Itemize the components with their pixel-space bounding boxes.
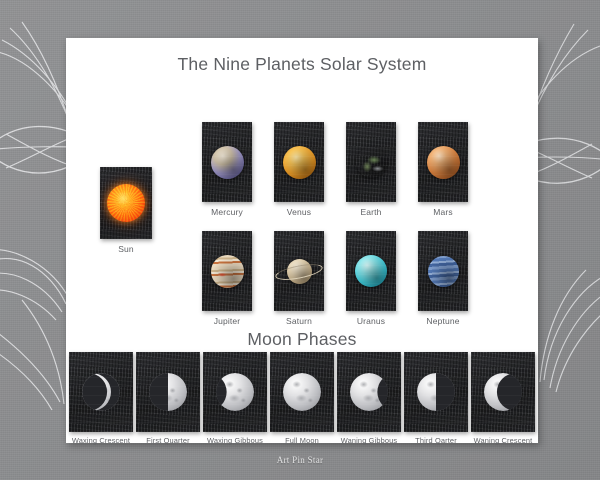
sun-card-image xyxy=(100,167,152,239)
saturn-disc xyxy=(276,254,322,288)
planet-card-venus: Venus xyxy=(274,122,324,217)
waxing-crescent-moon-icon xyxy=(82,373,120,411)
photo-backdrop: The Nine Planets Solar System Sun Mercur… xyxy=(0,0,600,480)
moon-shadow-mask xyxy=(149,373,187,411)
mars-caption: Mars xyxy=(433,207,453,217)
planet-card-mercury: Mercury xyxy=(202,122,252,217)
mercury-caption: Mercury xyxy=(211,207,243,217)
uranus-card-image xyxy=(346,231,396,311)
first-quarter-moon-icon xyxy=(149,373,187,411)
waning-gibbous-caption: Waning Gibbous xyxy=(341,436,397,445)
neptune-disc xyxy=(428,256,459,287)
mercury-card-image xyxy=(202,122,252,202)
uranus-caption: Uranus xyxy=(357,316,385,326)
sun-caption: Sun xyxy=(118,244,134,254)
planet-card-uranus: Uranus xyxy=(346,231,396,326)
moon-card-first-quarter: First Quarter xyxy=(136,352,200,445)
jupiter-disc xyxy=(211,255,244,288)
waning-gibbous-moon-icon xyxy=(350,373,388,411)
neptune-caption: Neptune xyxy=(426,316,459,326)
moon-card-third-quarter: Third Qarter xyxy=(404,352,468,445)
watermark: Art Pin Star xyxy=(0,455,600,465)
planet-card-jupiter: Jupiter xyxy=(202,231,252,326)
first-quarter-caption: First Quarter xyxy=(146,436,189,445)
venus-card-image xyxy=(274,122,324,202)
moon-card-waxing-crescent: Waxing Crescent xyxy=(69,352,133,445)
planets-section: Sun Mercury Venus xyxy=(66,75,538,325)
planet-card-neptune: Neptune xyxy=(418,231,468,326)
moon-card-waning-gibbous: Waning Gibbous xyxy=(337,352,401,445)
waning-gibbous-card-image xyxy=(337,352,401,432)
moon-card-full-moon: Full Moon xyxy=(270,352,334,445)
moon-shadow-mask xyxy=(82,373,120,411)
waning-crescent-moon-icon xyxy=(484,373,522,411)
moon-phases-section: Waxing Crescent First Quarter xyxy=(66,352,538,445)
waxing-crescent-caption: Waxing Crescent xyxy=(72,436,130,445)
waxing-gibbous-card-image xyxy=(203,352,267,432)
full-moon-caption: Full Moon xyxy=(285,436,319,445)
saturn-card-image xyxy=(274,231,324,311)
waxing-gibbous-moon-icon xyxy=(216,373,254,411)
moon-phases-title: Moon Phases xyxy=(66,325,538,350)
full-moon-card-image xyxy=(270,352,334,432)
mercury-disc xyxy=(211,146,244,179)
third-quarter-card-image xyxy=(404,352,468,432)
planet-card-saturn: Saturn xyxy=(274,231,324,326)
moon-shadow-mask xyxy=(417,373,455,411)
moon-shadow-mask xyxy=(350,373,388,411)
sun-disc xyxy=(107,184,145,222)
first-quarter-card-image xyxy=(136,352,200,432)
venus-disc xyxy=(283,146,316,179)
moon-shadow-mask xyxy=(283,373,321,411)
third-quarter-caption: Third Qarter xyxy=(415,436,457,445)
neptune-card-image xyxy=(418,231,468,311)
earth-disc xyxy=(356,147,387,178)
saturn-caption: Saturn xyxy=(286,316,312,326)
jupiter-caption: Jupiter xyxy=(214,316,241,326)
full-moon-icon xyxy=(283,373,321,411)
jupiter-card-image xyxy=(202,231,252,311)
planet-card-mars: Mars xyxy=(418,122,468,217)
mars-card-image xyxy=(418,122,468,202)
waxing-gibbous-caption: Waxing Gibbous xyxy=(207,436,263,445)
planet-grid: Mercury Venus Earth xyxy=(202,122,468,326)
earth-caption: Earth xyxy=(360,207,381,217)
planet-card-sun: Sun xyxy=(100,167,152,254)
poster-print: The Nine Planets Solar System Sun Mercur… xyxy=(66,38,538,443)
moon-card-waning-crescent: Waning Crescent xyxy=(471,352,535,445)
third-quarter-moon-icon xyxy=(417,373,455,411)
moon-shadow-mask xyxy=(216,373,254,411)
moon-phase-row: Waxing Crescent First Quarter xyxy=(66,352,538,445)
waning-crescent-card-image xyxy=(471,352,535,432)
waning-crescent-caption: Waning Crescent xyxy=(474,436,533,445)
moon-card-waxing-gibbous: Waxing Gibbous xyxy=(203,352,267,445)
mars-disc xyxy=(427,146,460,179)
moon-shadow-mask xyxy=(484,373,522,411)
venus-caption: Venus xyxy=(287,207,311,217)
waxing-crescent-card-image xyxy=(69,352,133,432)
uranus-disc xyxy=(355,255,387,287)
earth-card-image xyxy=(346,122,396,202)
planet-card-earth: Earth xyxy=(346,122,396,217)
planets-title: The Nine Planets Solar System xyxy=(66,38,538,75)
